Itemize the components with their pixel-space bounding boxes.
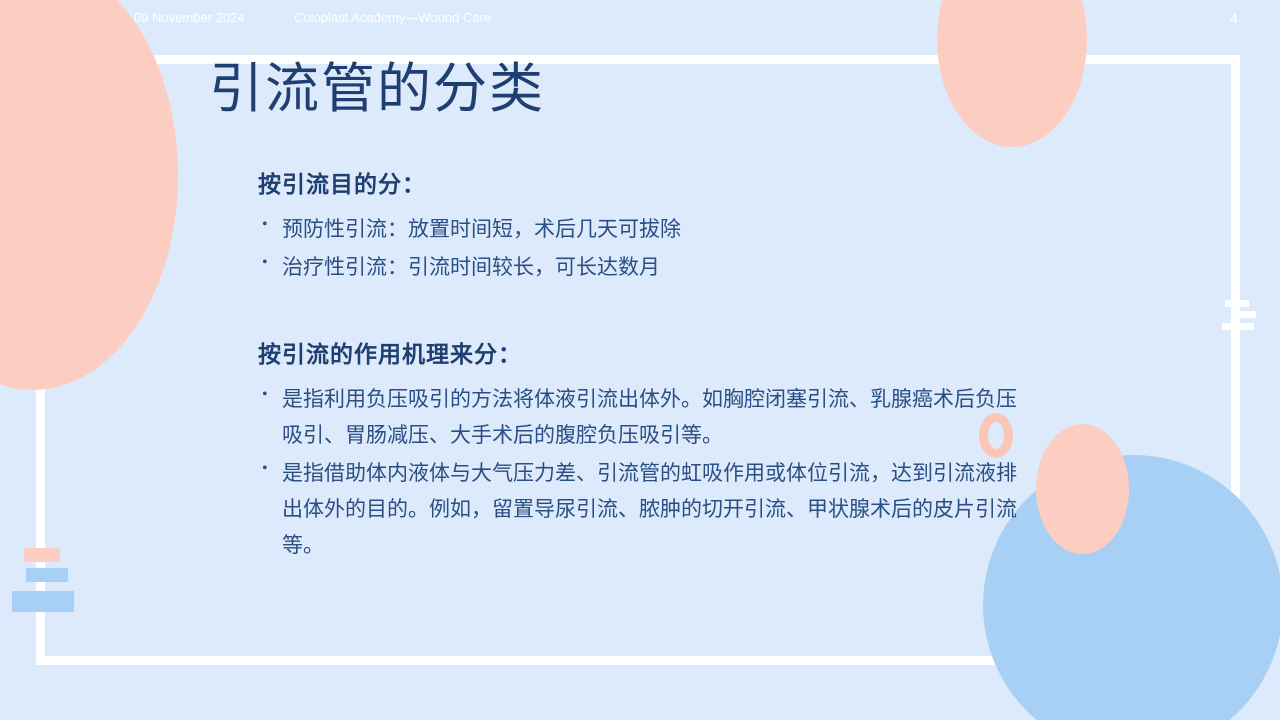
section-heading: 按引流目的分： xyxy=(258,165,1038,199)
list-item: 是指利用负压吸引的方法将体液引流出体外。如胸腔闭塞引流、乳腺癌术后负压吸引、胃肠… xyxy=(258,381,1022,453)
section-heading: 按引流的作用机理来分： xyxy=(258,335,1038,369)
presentation-slide: 09 November 2024 Coloplast Academy—Wound… xyxy=(0,0,1280,720)
slide-content: 引流管的分类 按引流目的分： 预防性引流：放置时间短，术后几天可拔除 治疗性引流… xyxy=(0,0,1280,720)
list-item: 预防性引流：放置时间短，术后几天可拔除 xyxy=(258,211,1038,247)
bullet-list: 预防性引流：放置时间短，术后几天可拔除 治疗性引流：引流时间较长，可长达数月 xyxy=(258,211,1038,285)
page-title: 引流管的分类 xyxy=(209,57,545,122)
section-drainage-purpose: 按引流目的分： 预防性引流：放置时间短，术后几天可拔除 治疗性引流：引流时间较长… xyxy=(258,165,1038,287)
bullet-list: 是指利用负压吸引的方法将体液引流出体外。如胸腔闭塞引流、乳腺癌术后负压吸引、胃肠… xyxy=(258,381,1038,564)
section-drainage-mechanism: 按引流的作用机理来分： 是指利用负压吸引的方法将体液引流出体外。如胸腔闭塞引流、… xyxy=(258,335,1038,566)
list-item: 治疗性引流：引流时间较长，可长达数月 xyxy=(258,249,1038,285)
list-item: 是指借助体内液体与大气压力差、引流管的虹吸作用或体位引流，达到引流液排出体外的目… xyxy=(258,455,1022,563)
